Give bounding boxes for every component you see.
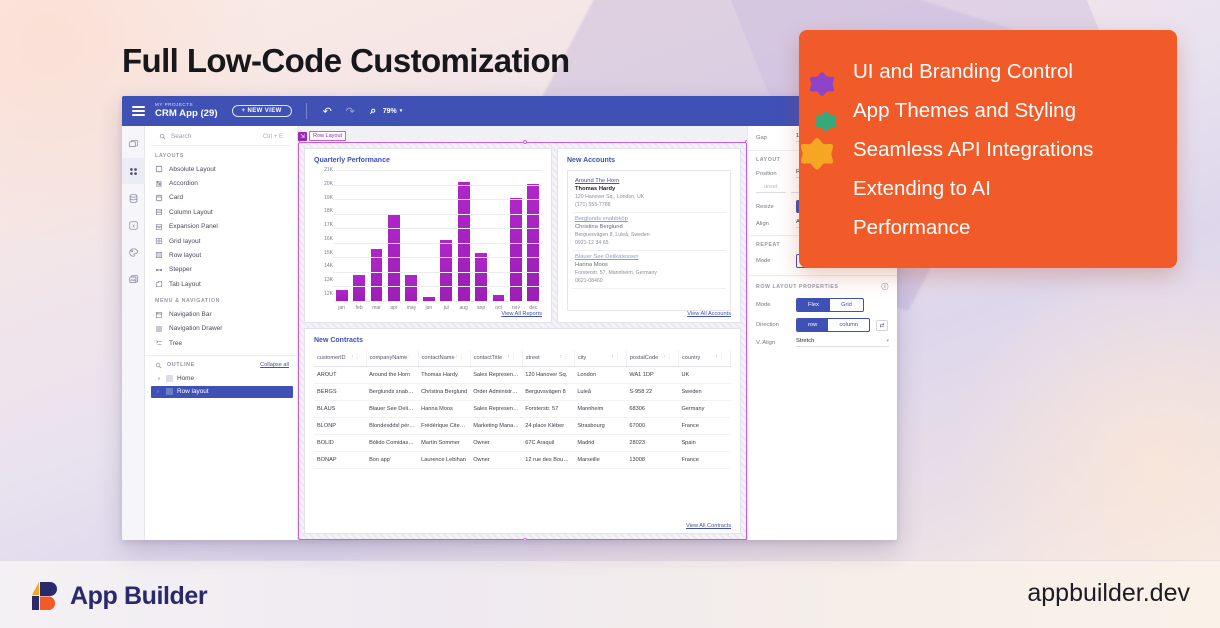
column-header-label: postalCode (630, 355, 658, 361)
bar-slot (333, 170, 350, 301)
table-cell: Owner (470, 435, 522, 452)
table-cell: Bólido Comidas preparar... (366, 435, 418, 452)
gap-label: Gap (756, 135, 790, 141)
search-placeholder: Search (171, 133, 258, 140)
table-cell: WA1 1DP (626, 367, 678, 384)
table-cell: AROUT (314, 367, 366, 384)
x-tick: feb (350, 305, 367, 311)
account-phone: 0621-08460 (575, 278, 723, 284)
table-cell: BLAUS (314, 401, 366, 418)
outline-node-label: Row layout (177, 388, 209, 395)
table-row[interactable]: BONAPBon app'Laurence LebihanOwner12 rue… (314, 452, 731, 469)
sort-icon[interactable]: ↑⋮ (351, 354, 361, 360)
components-icon[interactable] (122, 158, 145, 184)
table-cell: Luleå (574, 384, 626, 401)
bar-may (405, 275, 417, 301)
plot-column: janfebmaraprmayjunjulaugsepoctnovdec (333, 170, 542, 311)
table-cell: Owner (470, 452, 522, 469)
my-projects-label: MY PROJECTS (155, 103, 218, 108)
toolbox-label: Tree (169, 340, 182, 347)
toolbox-label: Accordion (169, 180, 198, 187)
component-toolbox-panel: Search Ctrl + E LAYOUTS Absolute Layout … (145, 126, 298, 540)
account-contact: Thomas Hardy (575, 186, 723, 192)
new-view-button[interactable]: + NEW VIEW (232, 105, 292, 117)
logo-mark-icon (28, 580, 60, 612)
column-header-companyName[interactable]: companyName↑⋮ (366, 350, 418, 367)
column-header-street[interactable]: street↑⋮ (522, 350, 574, 367)
project-name: CRM App (29) (155, 109, 218, 119)
toolbox-label: Navigation Bar (169, 311, 212, 318)
y-tick: 17K (314, 223, 333, 228)
search-icon (155, 362, 162, 369)
gridline (333, 301, 542, 302)
gridline (333, 185, 542, 186)
mode-option-grid[interactable]: Grid (830, 299, 863, 311)
chevron-down-icon: ▾ (886, 338, 889, 344)
table-cell: Berguvsvägen 8 (522, 384, 574, 401)
column-header-label: street (526, 355, 540, 361)
x-tick: may (403, 305, 420, 311)
swap-icon[interactable]: ⇄ (876, 320, 888, 331)
direction-option-row[interactable]: row (797, 319, 828, 331)
toolbox-label: Grid layout (169, 238, 200, 245)
bar-slot (368, 170, 385, 301)
mode-label: Mode (756, 302, 790, 308)
table-cell: 120 Hanover Sq. (522, 367, 574, 384)
table-cell: S-958 22 (626, 384, 678, 401)
table-cell: Blondesddsl père et fils (366, 418, 418, 435)
table-header: customerID↑⋮companyName↑⋮contactName↑⋮co… (314, 350, 731, 367)
move-handle-icon[interactable]: ⇲ (298, 132, 307, 141)
project-info: MY PROJECTS CRM App (29) (155, 103, 218, 119)
quarterly-performance-card[interactable]: Quarterly Performance 21K20K19K18K17K16K… (304, 148, 552, 323)
y-tick: 20K (314, 182, 333, 187)
table-cell: BOLID (314, 435, 366, 452)
toolbox-item-tree[interactable]: Tree (145, 336, 297, 350)
row-layout-properties-group: ROW LAYOUT PROPERTIES ⓘ Mode Flex Grid D… (748, 276, 897, 354)
gridline (333, 199, 542, 200)
table-cell: Hanna Moos (418, 401, 470, 418)
assets-icon[interactable] (122, 266, 145, 292)
outline-node-home[interactable]: ∨ Home (145, 373, 297, 385)
resize-handle-tc[interactable] (523, 140, 527, 144)
plot-area (333, 170, 542, 302)
search-icon (159, 133, 166, 140)
chevron-right-icon[interactable]: › (157, 389, 162, 395)
tree-icon (155, 339, 163, 347)
account-item[interactable]: Berglunds snabbköpChristina BerglundBerg… (572, 213, 726, 251)
gridline (333, 214, 542, 215)
offset-top[interactable]: unset (756, 184, 786, 193)
toolbox-label: Tab Layout (169, 281, 201, 288)
undo-icon[interactable]: ↶ (321, 105, 334, 118)
column-header-label: contactTitle (474, 355, 502, 361)
y-tick: 13K (314, 278, 333, 283)
view-all-contracts-link[interactable]: View All Contracts (686, 523, 731, 529)
collapse-all-link[interactable]: Collapse all (260, 362, 289, 368)
row-layout-icon (155, 251, 163, 259)
bar-slot (350, 170, 367, 301)
window-body: x Search Ctrl + E LAYOUTS Absolute Layou… (122, 126, 897, 540)
y-tick: 18K (314, 209, 333, 214)
row-layout-selection-frame[interactable]: Quarterly Performance 21K20K19K18K17K16K… (298, 142, 747, 540)
design-canvas[interactable]: ⇲ Row Layout Quarterly Performance 21K (298, 126, 747, 540)
navigation-bar-icon (155, 311, 163, 319)
expansion-panel-icon (155, 223, 163, 231)
toolbox-item-row-layout[interactable]: Row layout (145, 248, 297, 262)
gridline (333, 272, 542, 273)
table-row[interactable]: BLAUSBlauer See DelikatessenHanna MoosSa… (314, 401, 731, 418)
mode-option-flex[interactable]: Flex (797, 299, 830, 311)
node-type-icon (166, 388, 173, 395)
x-axis: janfebmaraprmayjunjulaugsepoctnovdec (333, 302, 542, 311)
menu-navigation-section-title: MENU & NAVIGATION (145, 291, 297, 307)
x-tick: sep (472, 305, 489, 311)
table-cell: Martín Sommer (418, 435, 470, 452)
gridline (333, 286, 542, 287)
table-cell: 67C Araquil (522, 435, 574, 452)
grid-layout-icon (155, 237, 163, 245)
direction-segmented[interactable]: row column (796, 318, 870, 332)
pages-icon[interactable] (122, 131, 145, 157)
table-row[interactable]: AROUTAround the HornThomas HardySales Re… (314, 367, 731, 384)
star-green-icon (813, 109, 839, 135)
feature-item-4: Extending to AI (853, 169, 1151, 208)
column-header-customerID[interactable]: customerID↑⋮ (314, 350, 366, 367)
accounts-title: New Accounts (567, 157, 731, 164)
x-tick: jan (333, 305, 350, 311)
data-icon[interactable] (122, 185, 145, 211)
stepper-icon (155, 266, 163, 274)
table-cell: BONAP (314, 452, 366, 469)
column-header-label: city (578, 355, 586, 361)
bar-slot (420, 170, 437, 301)
y-tick: 15K (314, 251, 333, 256)
search-input[interactable]: Search Ctrl + E (151, 126, 291, 146)
row-layout-title-text: ROW LAYOUT PROPERTIES (756, 284, 838, 290)
table-row[interactable]: BOLIDBólido Comidas preparar...Martín So… (314, 435, 731, 452)
bar-chart: 21K20K19K18K17K16K15K14K13K12K janfebmar… (314, 170, 542, 311)
x-tick: apr (385, 305, 402, 311)
account-phone: (171) 555-7788 (575, 202, 723, 208)
table-body: AROUTAround the HornThomas HardySales Re… (314, 367, 731, 469)
menu-navigation-list: Navigation Bar Navigation Drawer Tree (145, 307, 297, 350)
column-header-country[interactable]: country↑⋮ (678, 350, 730, 367)
table-cell: 68306 (626, 401, 678, 418)
table-cell: BERGS (314, 384, 366, 401)
table-cell: London (574, 367, 626, 384)
navigation-drawer-icon (155, 325, 163, 333)
toolbox-item-column-layout[interactable]: Column Layout (145, 205, 297, 219)
table-cell: Mannheim (574, 401, 626, 418)
feature-item-2: App Themes and Styling (853, 91, 1151, 130)
position-label: Position (756, 171, 790, 177)
table-cell: Strasbourg (574, 418, 626, 435)
account-contact: Christina Berglund (575, 224, 723, 230)
y-tick: 19K (314, 196, 333, 201)
x-tick: aug (455, 305, 472, 311)
square-icon (155, 165, 163, 173)
table-cell: 13008 (626, 452, 678, 469)
table-cell: 24 place Kléber (522, 418, 574, 435)
canvas-content: Quarterly Performance 21K20K19K18K17K16K… (304, 148, 741, 534)
gridline (333, 257, 542, 258)
resize-label: Resize (756, 204, 790, 210)
sort-icon[interactable]: ↑⋮ (455, 354, 465, 360)
bar-aug (458, 182, 470, 301)
bar-slot (455, 170, 472, 301)
table-cell: Madrid (574, 435, 626, 452)
table-cell: Marketing Manager (470, 418, 522, 435)
gridline (333, 243, 542, 244)
table-row[interactable]: BLONPBlondesddsl père et filsFrédérique … (314, 418, 731, 435)
bar-slot (438, 170, 455, 301)
sort-icon[interactable]: ↑⋮ (611, 354, 621, 360)
bar-slot (385, 170, 402, 301)
account-company-link[interactable]: Berglunds snabbköp (575, 216, 723, 222)
contracts-title: New Contracts (314, 337, 731, 344)
gridline (333, 170, 542, 171)
table-cell: Sales Representative (470, 367, 522, 384)
x-tick: jun (420, 305, 437, 311)
toolbox-label: Row layout (169, 252, 201, 259)
new-contracts-card[interactable]: New Contracts customerID↑⋮companyName↑⋮c… (304, 328, 741, 534)
bar-slot (525, 170, 542, 301)
sort-icon[interactable]: ↑⋮ (559, 354, 569, 360)
y-tick: 16K (314, 237, 333, 242)
chevron-down-icon: ▾ (400, 108, 403, 114)
account-address: Berguvsvägen 8, Luleå, Sweden (575, 232, 723, 238)
table-cell: 12 rue des Bouchers (522, 452, 574, 469)
contracts-table[interactable]: customerID↑⋮companyName↑⋮contactName↑⋮co… (314, 350, 731, 469)
accounts-list: Around The HornThomas Hardy120 Hanover S… (567, 170, 731, 311)
toolbox-label: Column Layout (169, 209, 213, 216)
chevron-down-icon[interactable]: ∨ (157, 376, 162, 382)
column-header-label: customerID (317, 355, 346, 361)
redo-icon[interactable]: ↷ (344, 105, 357, 118)
valign-select[interactable]: Stretch ▾ (796, 338, 889, 347)
direction-label: Direction (756, 322, 790, 328)
background-blob-right (940, 268, 1220, 588)
column-header-contactName[interactable]: contactName↑⋮ (418, 350, 470, 367)
column-header-postalCode[interactable]: postalCode↑⋮ (626, 350, 678, 367)
feature-item-1: UI and Branding Control (853, 52, 1151, 91)
gridline (333, 228, 542, 229)
bar-slot (490, 170, 507, 301)
top-row: Quarterly Performance 21K20K19K18K17K16K… (304, 148, 741, 323)
sort-icon[interactable]: ↑⋮ (507, 354, 517, 360)
direction-option-column[interactable]: column (828, 319, 869, 331)
star-orange-icon (797, 135, 837, 175)
node-type-icon (166, 375, 173, 382)
table-cell: Berglunds snabbköp (366, 384, 418, 401)
layouts-section-title: LAYOUTS (145, 146, 297, 162)
x-tick: jul (438, 305, 455, 311)
align-label: Align (756, 221, 790, 227)
bar-jul (440, 240, 452, 301)
outline-title: OUTLINE (167, 362, 255, 368)
search-shortcut: Ctrl + E (263, 134, 283, 140)
view-all-reports-link[interactable]: View All Reports (501, 311, 542, 317)
row-layout-section-title: ROW LAYOUT PROPERTIES ⓘ (756, 282, 889, 292)
table-cell: Bon app' (366, 452, 418, 469)
zoom-icon: ⌕ (367, 105, 380, 118)
column-header-label: country (682, 355, 700, 361)
column-header-city[interactable]: city↑⋮ (574, 350, 626, 367)
icon-rail: x (122, 126, 145, 540)
bar-sep (475, 253, 487, 301)
toolbox-label: Expansion Panel (169, 223, 218, 230)
toolbox-item-accordion[interactable]: Accordion (145, 176, 297, 190)
feature-item-5: Performance (853, 208, 1151, 247)
column-header-label: contactName (422, 355, 455, 361)
table-cell: Frédérique Citeaux (418, 418, 470, 435)
account-item[interactable]: Blauer See DelikatessenHanna MoosForster… (572, 251, 726, 289)
star-purple-icon (807, 70, 837, 100)
table-cell: France (678, 452, 730, 469)
y-axis: 21K20K19K18K17K16K15K14K13K12K (314, 170, 333, 311)
tab-layout-icon (155, 280, 163, 288)
table-cell: Forsterstr. 57 (522, 401, 574, 418)
variables-icon[interactable]: x (122, 212, 145, 238)
mode-segmented[interactable]: Flex Grid (796, 298, 864, 312)
y-tick: 14K (314, 264, 333, 269)
table-cell: Sales Representative (470, 401, 522, 418)
column-header-label: companyName (370, 355, 408, 361)
table-cell: Christina Berglund (418, 384, 470, 401)
table-cell: Germany (678, 401, 730, 418)
table-cell: France (678, 418, 730, 435)
repeat-mode-label: Mode (756, 258, 790, 264)
app-builder-window: MY PROJECTS CRM App (29) + NEW VIEW ↶ ↷ … (122, 96, 897, 540)
theme-icon[interactable] (122, 239, 145, 265)
bar-slot (472, 170, 489, 301)
sort-icon[interactable]: ↑⋮ (716, 354, 726, 360)
table-header-row: customerID↑⋮companyName↑⋮contactName↑⋮co… (314, 350, 731, 367)
zoom-control[interactable]: ⌕ 79% ▾ (367, 105, 403, 118)
outline-node-label: Home (177, 375, 194, 382)
bar-slot (403, 170, 420, 301)
svg-text:x: x (132, 224, 135, 229)
valign-label: V. Align (756, 340, 790, 346)
new-accounts-card[interactable]: New Accounts Around The HornThomas Hardy… (557, 148, 741, 323)
site-url: appbuilder.dev (1027, 579, 1190, 608)
table-cell: UK (678, 367, 730, 384)
column-layout-icon (155, 208, 163, 216)
table-row[interactable]: BERGSBerglunds snabbköpChristina Berglun… (314, 384, 731, 401)
outline-node-row-layout[interactable]: › Row layout (151, 386, 293, 398)
toolbar-divider (306, 103, 307, 119)
valign-value: Stretch (796, 338, 814, 344)
toolbox-item-tab-layout[interactable]: Tab Layout (145, 277, 297, 291)
table-cell: 67000 (626, 418, 678, 435)
zoom-level: 79% (383, 108, 397, 115)
info-icon[interactable]: ⓘ (881, 282, 889, 292)
table-cell: Thomas Hardy (418, 367, 470, 384)
account-contact: Hanna Moos (575, 262, 723, 268)
table-cell: Spain (678, 435, 730, 452)
sort-icon[interactable]: ↑⋮ (403, 354, 413, 360)
bar-feb (353, 275, 365, 301)
bar-slot (507, 170, 524, 301)
toolbox-item-navigation-drawer[interactable]: Navigation Drawer (145, 322, 297, 336)
toolbox-label: Navigation Drawer (169, 325, 222, 332)
toolbox-label: Absolute Layout (169, 166, 216, 173)
bar-jan (336, 290, 348, 301)
resize-handle-bl[interactable] (298, 538, 300, 540)
app-builder-logo: App Builder (28, 580, 207, 612)
page-title: Full Low-Code Customization (122, 42, 570, 80)
bars-group (333, 170, 542, 301)
table-cell: Laurence Lebihan (418, 452, 470, 469)
view-all-accounts-link[interactable]: View All Accounts (687, 311, 731, 317)
card-icon (155, 194, 163, 202)
x-tick: mar (368, 305, 385, 311)
toolbox-item-card[interactable]: Card (145, 191, 297, 205)
hamburger-icon[interactable] (132, 106, 145, 116)
table-cell: Around the Horn (366, 367, 418, 384)
account-address: Forsterstr. 57, Mannheim, Germany (575, 270, 723, 276)
account-phone: 0921-12 34 65 (575, 240, 723, 246)
feature-item-3: Seamless API Integrations (853, 130, 1151, 169)
app-toolbar: MY PROJECTS CRM App (29) + NEW VIEW ↶ ↷ … (122, 96, 897, 126)
table-cell: Blauer See Delikatessen (366, 401, 418, 418)
table-cell: BLONP (314, 418, 366, 435)
toolbox-item-stepper[interactable]: Stepper (145, 263, 297, 277)
layouts-list: Absolute Layout Accordion Card Column La… (145, 162, 297, 291)
account-address: 120 Hanover Sq., London, UK (575, 194, 723, 200)
account-company-link[interactable]: Blauer See Delikatessen (575, 254, 723, 260)
table-cell: Marseille (574, 452, 626, 469)
selection-badge-label: Row Layout (309, 131, 346, 141)
toolbox-item-expansion-panel[interactable]: Expansion Panel (145, 220, 297, 234)
sort-icon[interactable]: ↑⋮ (663, 354, 673, 360)
table-cell: Order Administrator (470, 384, 522, 401)
table-cell: 28023 (626, 435, 678, 452)
resize-handle-tr[interactable] (745, 140, 747, 144)
column-header-contactTitle[interactable]: contactTitle↑⋮ (470, 350, 522, 367)
outline-header: OUTLINE Collapse all (145, 355, 297, 373)
resize-handle-bc[interactable] (523, 538, 527, 540)
logo-text: App Builder (70, 582, 207, 611)
toolbox-label: Card (169, 194, 183, 201)
feature-callout-panel: UI and Branding Control App Themes and S… (799, 30, 1177, 268)
account-item[interactable]: Around The HornThomas Hardy120 Hanover S… (572, 175, 726, 213)
accordion-icon (155, 180, 163, 188)
toolbox-item-navigation-bar[interactable]: Navigation Bar (145, 307, 297, 321)
toolbox-label: Stepper (169, 266, 192, 273)
toolbox-item-absolute-layout[interactable]: Absolute Layout (145, 162, 297, 176)
toolbox-item-grid-layout[interactable]: Grid layout (145, 234, 297, 248)
y-tick: 21K (314, 168, 333, 173)
y-tick: 12K (314, 292, 333, 297)
chart-title: Quarterly Performance (314, 157, 542, 164)
table-cell: Sweden (678, 384, 730, 401)
account-company-link[interactable]: Around The Horn (575, 178, 723, 184)
selection-badge[interactable]: ⇲ Row Layout (298, 131, 346, 141)
